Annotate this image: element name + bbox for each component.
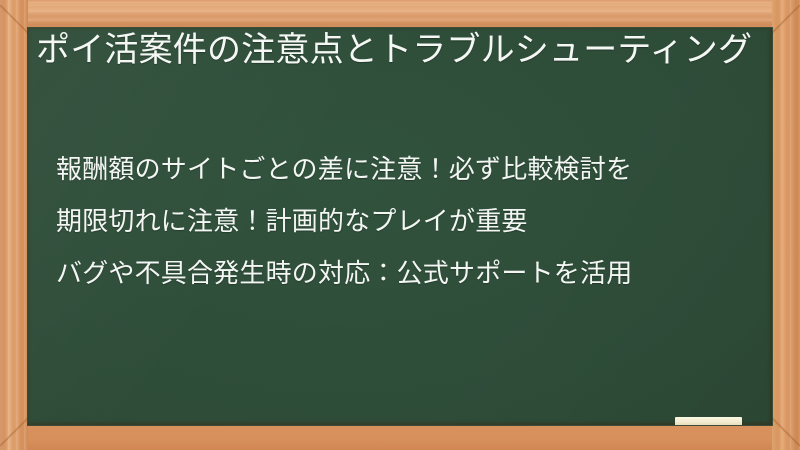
- chalk-stick: [675, 417, 742, 425]
- chalkboard-surface: ポイ活案件の注意点とトラブルシューティング 報酬額のサイトごとの差に注意！必ず比…: [28, 28, 772, 425]
- frame-right-rail: [772, 0, 800, 450]
- frame-top-rail: [0, 0, 800, 30]
- slide-title: ポイ活案件の注意点とトラブルシューティング: [36, 28, 762, 73]
- slide-canvas: ポイ活案件の注意点とトラブルシューティング 報酬額のサイトごとの差に注意！必ず比…: [0, 0, 800, 450]
- slide-bullet-list: 報酬額のサイトごとの差に注意！必ず比較検討を 期限切れに注意！計画的なプレイが重…: [56, 154, 762, 288]
- slide-bullet-item: 期限切れに注意！計画的なプレイが重要: [56, 206, 762, 236]
- frame-left-rail: [0, 0, 28, 450]
- slide-bullet-item: 報酬額のサイトごとの差に注意！必ず比較検討を: [56, 154, 762, 184]
- slide-bullet-item: バグや不具合発生時の対応：公式サポートを活用: [56, 258, 762, 288]
- frame-bottom-ledge: [0, 422, 800, 450]
